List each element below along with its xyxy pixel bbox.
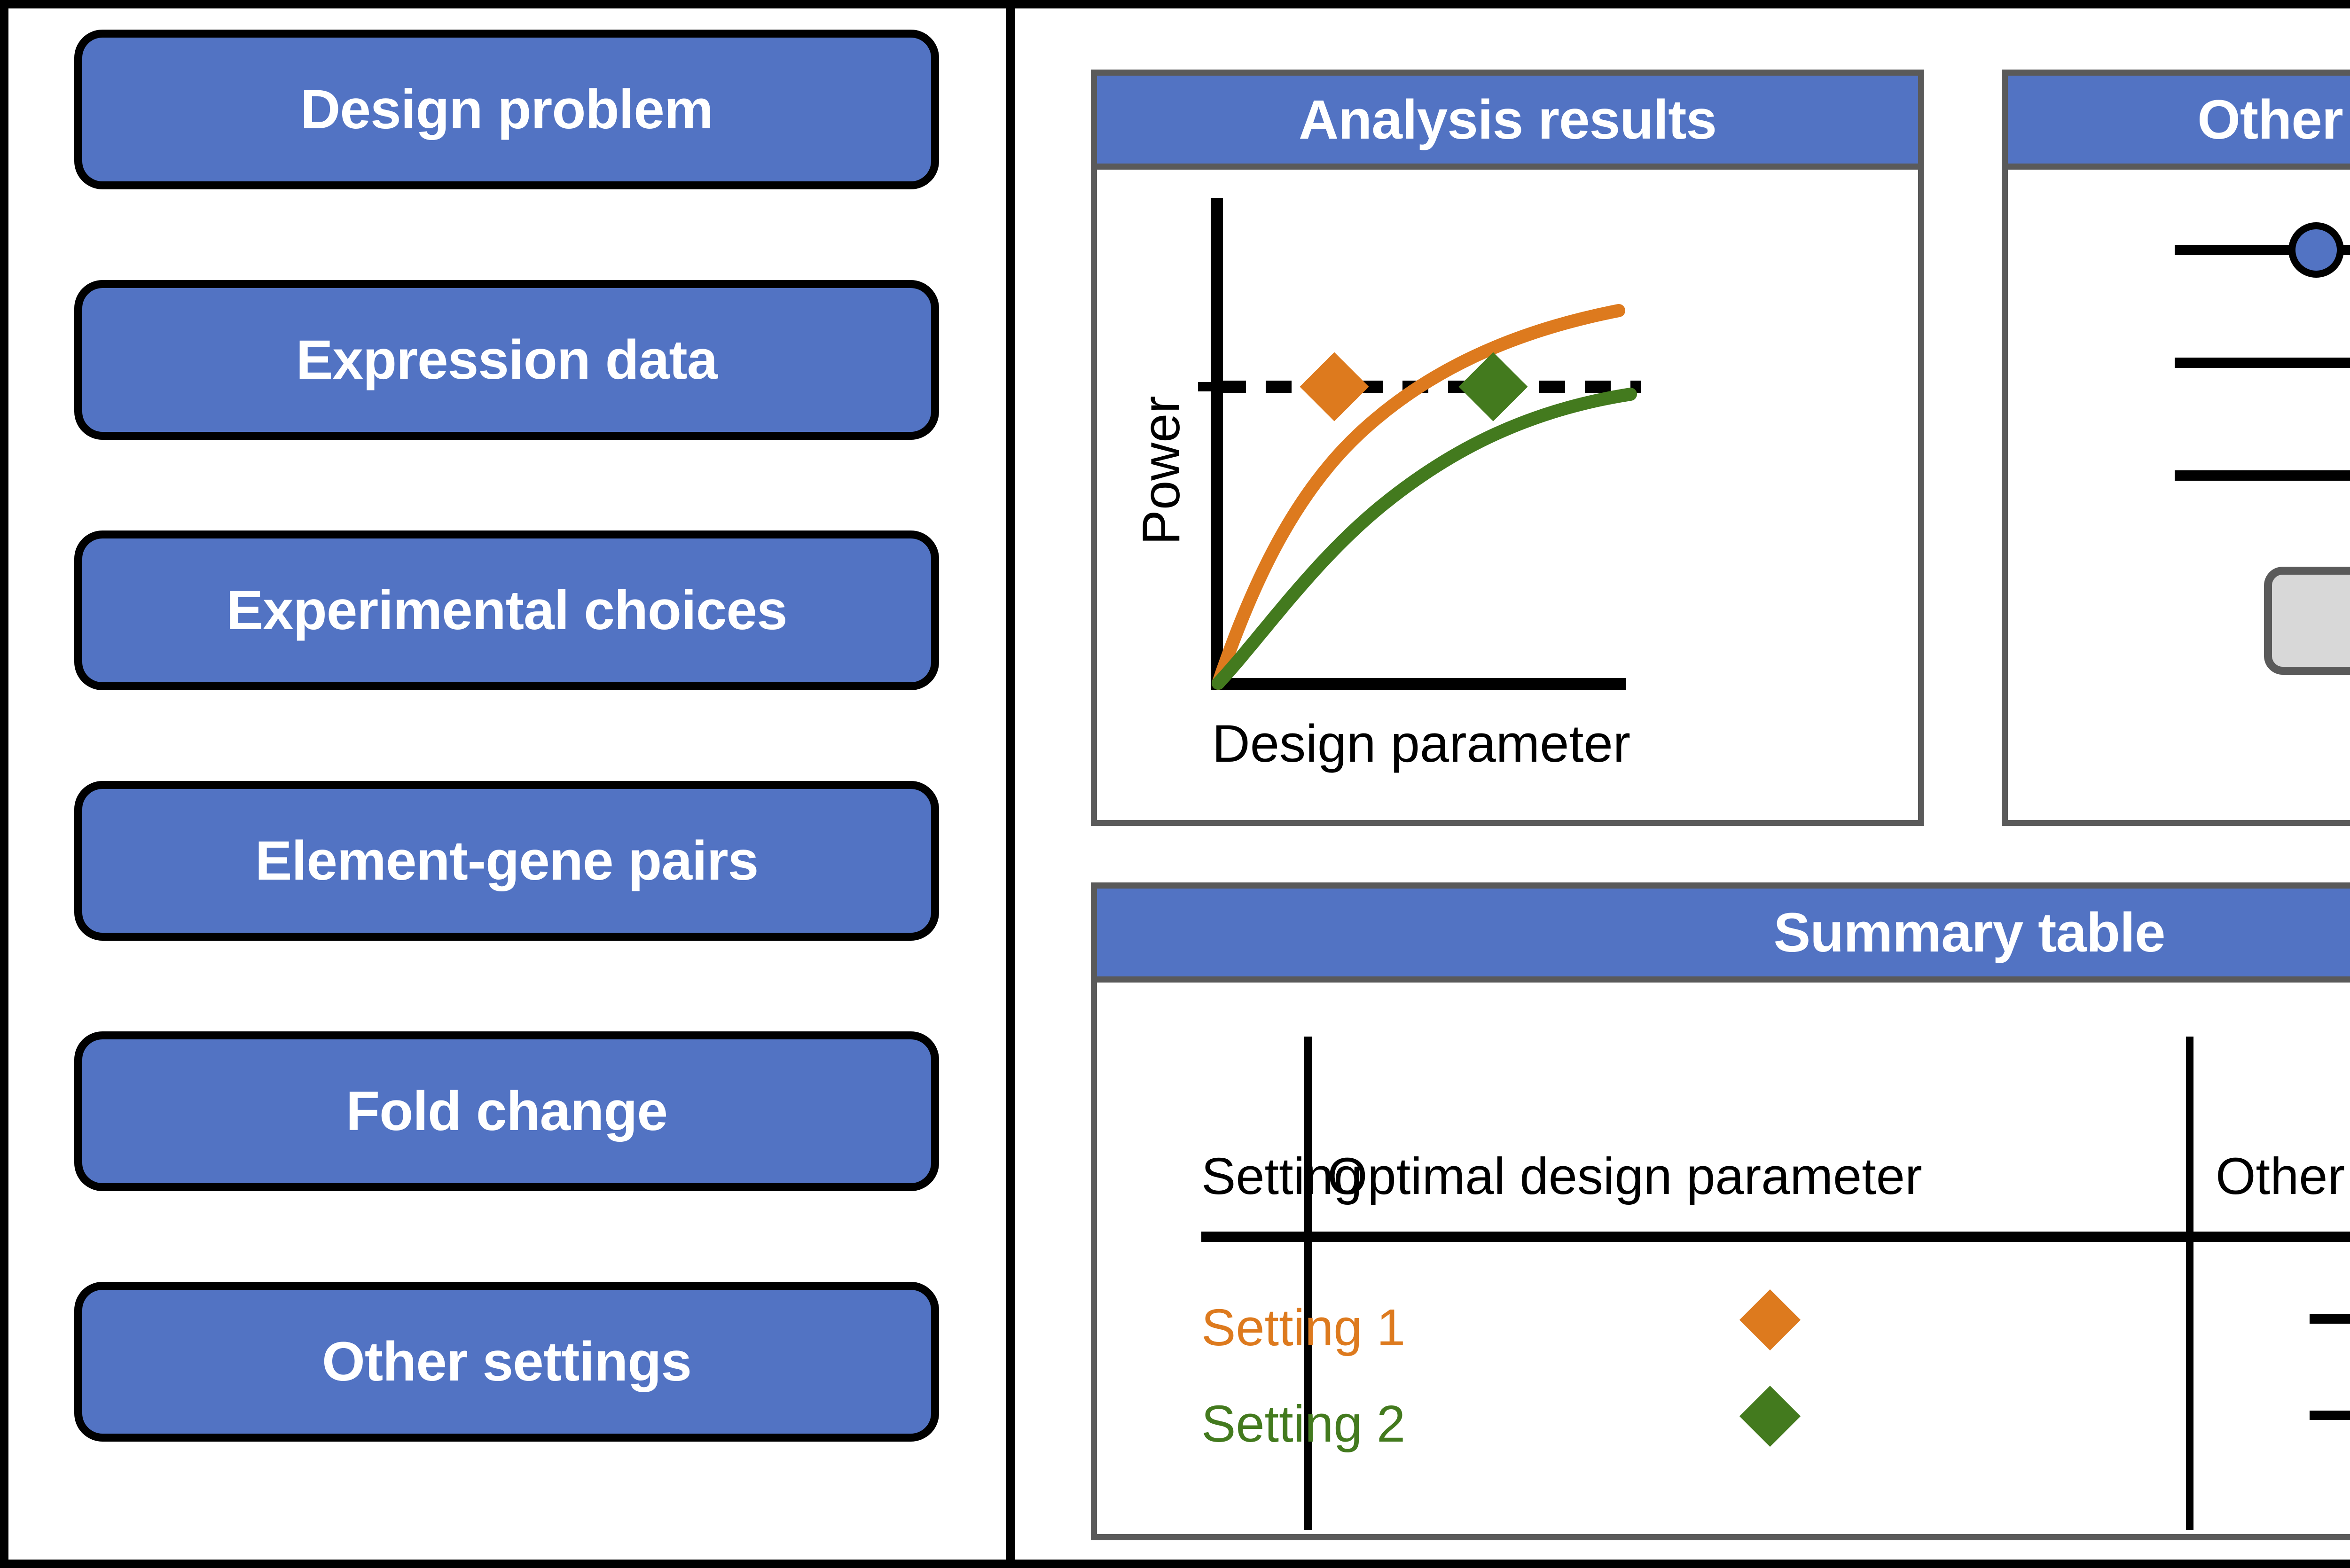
other-parameters-header: Other parameters xyxy=(2008,76,2350,170)
sidebar-item-design-problem[interactable]: Design problem xyxy=(74,30,939,189)
analysis-results-header: Analysis results xyxy=(1097,76,1918,170)
sidebar: Design problem Expression data Experimen… xyxy=(8,8,1006,1560)
sidebar-item-expression-data[interactable]: Expression data xyxy=(74,280,939,440)
app-window: Design problem Expression data Experimen… xyxy=(0,0,2350,1568)
table-row-setting-1-label: Setting 1 xyxy=(1201,1302,1405,1354)
table-row-setting-2-slider[interactable] xyxy=(2310,1384,2350,1445)
analysis-results-body: Power Design parameter xyxy=(1097,170,1918,820)
table-row-setting-1-marker-icon xyxy=(1739,1289,1801,1350)
other-parameters-body: Pin setting xyxy=(2008,170,2350,820)
other-parameters-panel: Other parameters Pin setting xyxy=(2002,70,2350,826)
summary-table-title: Summary table xyxy=(1774,905,2165,960)
sidebar-item-label: Other settings xyxy=(322,1334,691,1389)
sidebar-item-other-settings[interactable]: Other settings xyxy=(74,1282,939,1442)
sidebar-item-label: Element-gene pairs xyxy=(255,833,759,889)
sidebar-item-element-gene-pairs[interactable]: Element-gene pairs xyxy=(74,781,939,941)
analysis-results-title: Analysis results xyxy=(1299,92,1716,148)
sidebar-item-experimental-choices[interactable]: Experimental choices xyxy=(74,530,939,690)
slider-handle[interactable] xyxy=(2288,222,2344,278)
slider-track xyxy=(2175,358,2350,368)
pin-setting-button[interactable]: Pin setting xyxy=(2264,567,2350,675)
sidebar-workspace-divider xyxy=(1006,8,1015,1560)
summary-table-panel: Summary table Setting Optimal design par… xyxy=(1091,882,2350,1540)
analysis-results-panel: Analysis results xyxy=(1091,70,1924,826)
table-row-setting-1-slider[interactable] xyxy=(2310,1288,2350,1349)
table-header-rule xyxy=(1201,1232,2350,1242)
summary-table-header: Summary table xyxy=(1097,889,2350,983)
summary-table-body: Setting Optimal design parameter Other p… xyxy=(1097,983,2350,1534)
parameter-slider-3[interactable] xyxy=(2175,437,2350,513)
slider-track xyxy=(2310,1314,2350,1324)
table-column-rule-1 xyxy=(1304,1037,1312,1530)
table-header-optimal-design-parameter: Optimal design parameter xyxy=(1327,1151,1922,1202)
slider-track xyxy=(2310,1411,2350,1420)
sidebar-item-label: Experimental choices xyxy=(226,583,787,638)
table-column-rule-2 xyxy=(2186,1037,2193,1530)
sidebar-item-fold-change[interactable]: Fold change xyxy=(74,1031,939,1191)
parameter-slider-2[interactable] xyxy=(2175,325,2350,400)
table-row-setting-2-marker-icon xyxy=(1739,1386,1801,1447)
power-curve-setting-1 xyxy=(1218,311,1619,683)
sidebar-item-label: Fold change xyxy=(346,1084,667,1139)
chart-x-axis-label: Design parameter xyxy=(1212,714,1630,773)
table-row-setting-2-label: Setting 2 xyxy=(1201,1398,1405,1450)
workspace: Analysis results xyxy=(1015,8,2350,1560)
power-curve-chart[interactable]: Power Design parameter xyxy=(1097,170,1918,820)
table-header-other-parameters: Other parameters xyxy=(2216,1151,2350,1202)
parameter-slider-1[interactable] xyxy=(2175,212,2350,287)
sidebar-item-label: Expression data xyxy=(296,332,718,388)
chart-y-axis-label: Power xyxy=(1132,396,1191,545)
slider-track xyxy=(2175,470,2350,481)
optimum-marker-setting-1[interactable] xyxy=(1300,352,1369,421)
other-parameters-title: Other parameters xyxy=(2197,92,2350,148)
sidebar-item-label: Design problem xyxy=(300,82,713,137)
